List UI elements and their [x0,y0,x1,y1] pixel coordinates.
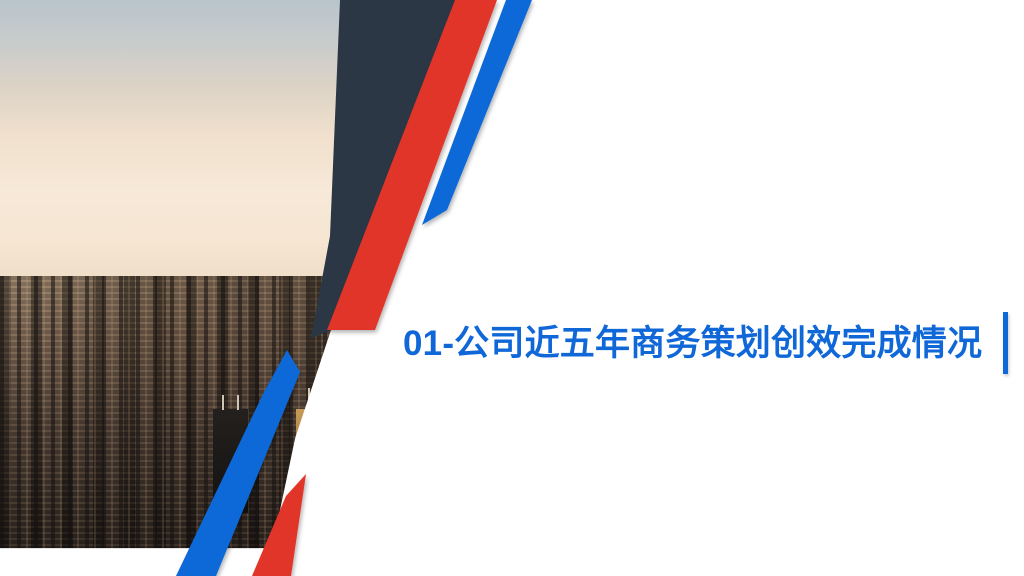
photo-sky [0,0,340,309]
photo-tower-gold [296,409,323,503]
title-accent-bar [1003,312,1008,374]
photo-tower-dark [213,409,249,514]
page-title: 01-公司近五年商务策划创效完成情况 [403,326,982,361]
section-cover-photo [0,0,340,552]
slide-title-block: 01-公司近五年商务策划创效完成情况 [403,312,1008,374]
photo-clip-shape [0,0,340,552]
presentation-slide: 01-公司近五年商务策划创效完成情况 [0,0,1024,576]
photo-cityscape [0,276,340,552]
red-stripe-upper [327,0,497,330]
blue-stripe-upper [422,0,532,225]
